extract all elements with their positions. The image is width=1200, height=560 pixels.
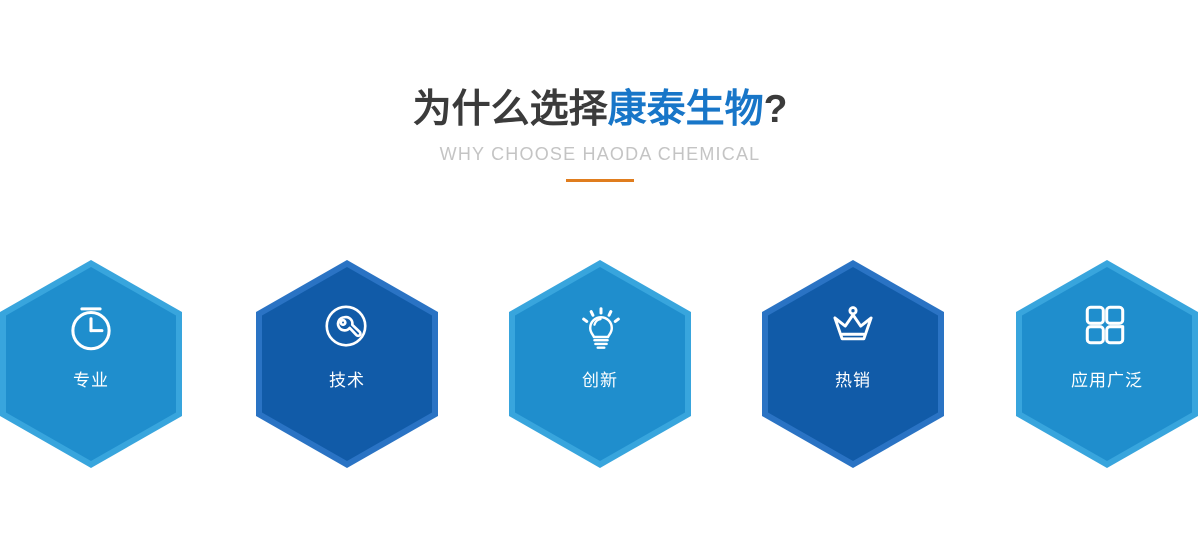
feature-hexagon-应用广泛[interactable]: 应用广泛 xyxy=(1016,260,1198,468)
feature-label: 热销 xyxy=(835,370,871,392)
feature-label: 技术 xyxy=(329,370,365,392)
feature-hexagon-row: 专业 技术 xyxy=(0,260,1200,470)
feature-hexagon-创新[interactable]: 创新 xyxy=(509,260,691,468)
hexagon-content: 技术 xyxy=(256,260,438,468)
grid-squares-icon xyxy=(1078,298,1136,356)
page-title: 为什么选择康泰生物? xyxy=(0,86,1200,134)
page-title-suffix: ? xyxy=(764,88,788,131)
section-heading: 为什么选择康泰生物? WHY CHOOSE HAODA CHEMICAL xyxy=(0,86,1200,182)
why-choose-us-section: 为什么选择康泰生物? WHY CHOOSE HAODA CHEMICAL 专业 xyxy=(0,0,1200,560)
page-title-accent: 康泰生物 xyxy=(608,88,764,131)
hexagon-content: 专业 xyxy=(0,260,182,468)
hexagon-content: 应用广泛 xyxy=(1016,260,1198,468)
lightbulb-icon xyxy=(571,298,629,356)
crown-icon xyxy=(824,298,882,356)
stopwatch-icon xyxy=(62,298,120,356)
hexagon-content: 热销 xyxy=(762,260,944,468)
feature-label: 应用广泛 xyxy=(1071,370,1143,392)
feature-label: 专业 xyxy=(73,370,109,392)
feature-hexagon-热销[interactable]: 热销 xyxy=(762,260,944,468)
feature-label: 创新 xyxy=(582,370,618,392)
feature-hexagon-专业[interactable]: 专业 xyxy=(0,260,182,468)
wrench-circle-icon xyxy=(318,298,376,356)
hexagon-content: 创新 xyxy=(509,260,691,468)
section-subtitle: WHY CHOOSE HAODA CHEMICAL xyxy=(0,143,1200,165)
title-divider xyxy=(566,179,634,182)
page-title-plain: 为什么选择 xyxy=(413,88,608,131)
feature-hexagon-技术[interactable]: 技术 xyxy=(256,260,438,468)
